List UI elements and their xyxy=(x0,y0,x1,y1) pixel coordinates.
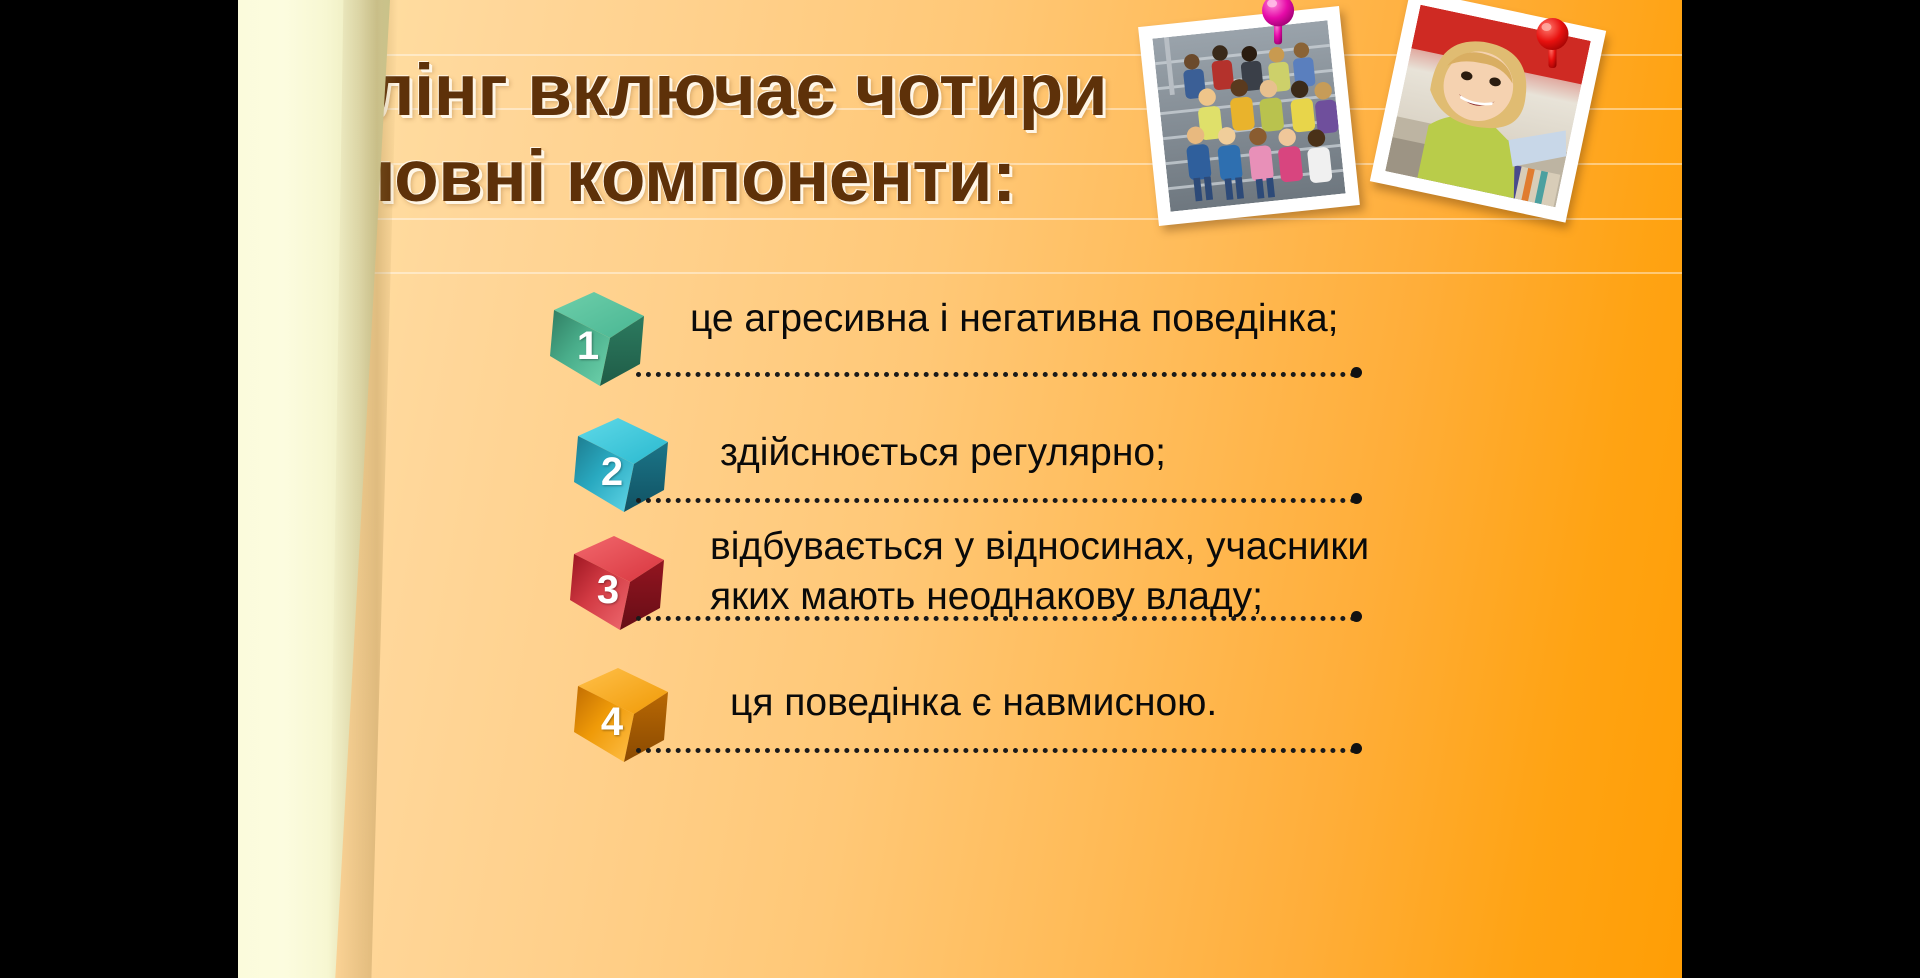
bullet-text-4: ця поведінка є навмисною. xyxy=(730,678,1217,728)
leader-end-dot xyxy=(1351,743,1362,754)
bullet-text-3: відбувається у відносинах, учасники яких… xyxy=(710,522,1369,622)
photo-class-group xyxy=(1138,6,1360,226)
cube-number: 2 xyxy=(560,420,664,524)
page-curl-edge xyxy=(238,0,390,978)
leader-end-dot xyxy=(1351,493,1362,504)
bullet-text-2: здійснюється регулярно; xyxy=(720,428,1166,478)
leader-line-3 xyxy=(636,616,1356,621)
leader-line-1 xyxy=(636,372,1356,377)
rule-line xyxy=(238,272,1682,274)
leader-line-4 xyxy=(636,748,1356,753)
photo-image xyxy=(1152,20,1345,211)
presentation-slide: Булінг включає чотири головні компоненти… xyxy=(238,0,1682,978)
cube-number: 4 xyxy=(560,670,664,774)
cube-number: 1 xyxy=(536,294,640,398)
cube-number: 3 xyxy=(556,538,660,642)
leader-end-dot xyxy=(1351,367,1362,378)
slide-stage: Булінг включає чотири головні компоненти… xyxy=(0,0,1920,978)
leader-end-dot xyxy=(1351,611,1362,622)
bullet-text-1: це агресивна і негативна поведінка; xyxy=(690,294,1338,344)
pushpin-red-icon xyxy=(1531,14,1575,72)
leader-line-2 xyxy=(636,498,1356,503)
photo-smiling-girl xyxy=(1370,0,1606,223)
pushpin-magenta-icon xyxy=(1256,0,1300,48)
